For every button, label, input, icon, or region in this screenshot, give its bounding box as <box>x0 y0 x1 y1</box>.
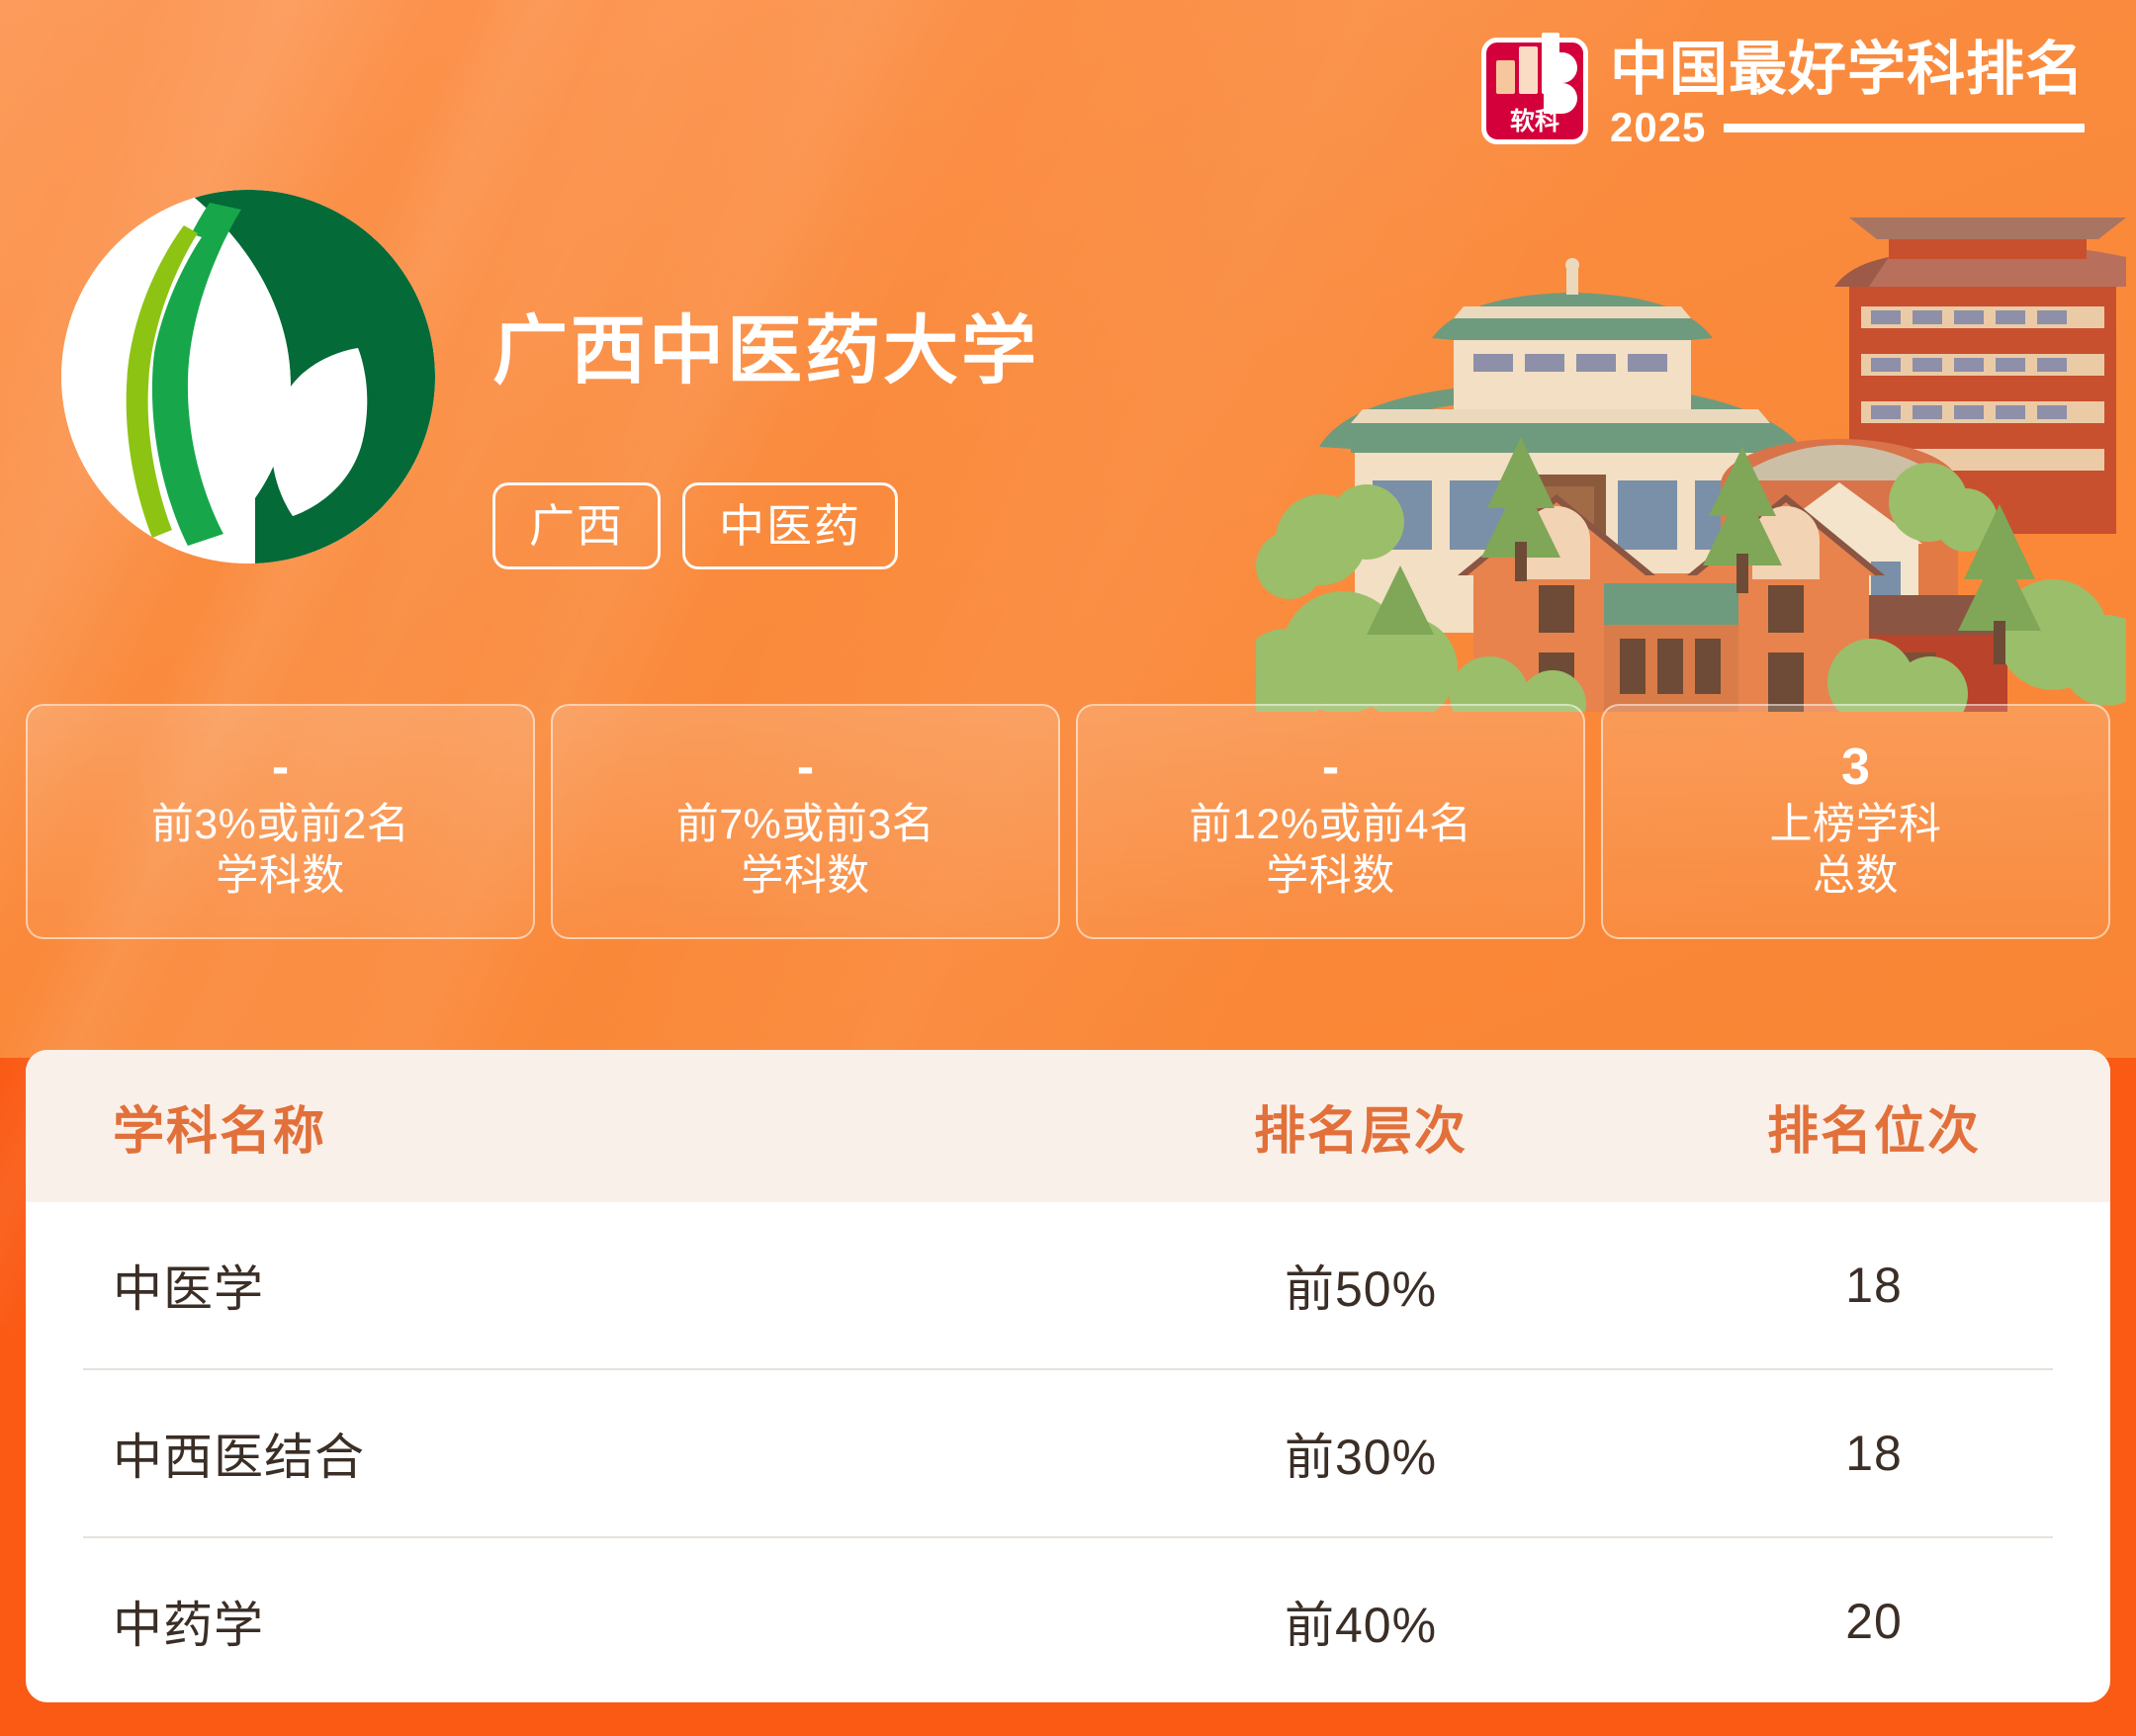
bottom-accent-strip <box>0 1702 2136 1736</box>
university-logo <box>61 190 435 564</box>
stat-card-top12[interactable]: - 前12%或前4名 学科数 <box>1076 704 1585 939</box>
tag-province[interactable]: 广西 <box>492 482 661 569</box>
table-row[interactable]: 中医学 前50% 18 <box>26 1202 2110 1368</box>
stat-value: - <box>1322 740 1339 795</box>
stat-card-top3[interactable]: - 前3%或前2名 学科数 <box>26 704 535 939</box>
logo-mark-text: 软科 <box>1486 110 1583 134</box>
summary-stats: - 前3%或前2名 学科数 - 前7%或前3名 学科数 - 前12%或前4名 学… <box>26 704 2110 939</box>
stat-label-line2: 学科数 <box>216 850 345 902</box>
logo-bar-1 <box>1496 60 1515 94</box>
university-name: 广西中医药大学 <box>492 314 1039 390</box>
stat-label-line2: 学科数 <box>1266 850 1395 902</box>
disciplines-table: 学科名称 排名层次 排名位次 中医学 前50% 18 中西医结合 前30% 18… <box>26 1050 2110 1702</box>
campus-illustration <box>1256 188 2126 712</box>
column-header-rank-position: 排名位次 <box>1638 1089 2110 1164</box>
stat-value: 3 <box>1841 740 1870 795</box>
cell-rank-position: 18 <box>1638 1257 2110 1314</box>
stat-label-line1: 前12%或前4名 <box>1190 799 1472 850</box>
cell-discipline-name: 中药学 <box>26 1586 1084 1657</box>
cell-rank-position: 20 <box>1638 1593 2110 1650</box>
cell-rank-tier: 前50% <box>1084 1250 1638 1321</box>
cell-rank-position: 18 <box>1638 1425 2110 1482</box>
table-row[interactable]: 中药学 前40% 20 <box>26 1538 2110 1702</box>
stat-label-line1: 前7%或前3名 <box>676 799 935 850</box>
tag-category[interactable]: 中医药 <box>682 482 898 569</box>
logo-bar-2 <box>1519 46 1538 94</box>
university-logo-graphic <box>61 190 435 564</box>
cell-rank-tier: 前40% <box>1084 1586 1638 1657</box>
cell-rank-tier: 前30% <box>1084 1418 1638 1489</box>
stat-card-top7[interactable]: - 前7%或前3名 学科数 <box>551 704 1060 939</box>
column-header-discipline-name: 学科名称 <box>26 1089 1084 1164</box>
brand-subline: 2025 <box>1610 107 2085 148</box>
stat-value: - <box>797 740 814 795</box>
cell-discipline-name: 中西医结合 <box>26 1418 1084 1489</box>
table-row[interactable]: 中西医结合 前30% 18 <box>26 1370 2110 1536</box>
stat-label-line1: 前3%或前2名 <box>151 799 410 850</box>
stat-value: - <box>272 740 289 795</box>
stat-label-line1: 上榜学科 <box>1770 799 1942 850</box>
table-header-row: 学科名称 排名层次 排名位次 <box>26 1050 2110 1202</box>
stat-label-line2: 学科数 <box>741 850 870 902</box>
campus-illustration-graphic <box>1256 188 2126 712</box>
cell-discipline-name: 中医学 <box>26 1250 1084 1321</box>
logo-letter-r-icon <box>1544 52 1577 114</box>
university-tags: 广西 中医药 <box>492 482 898 569</box>
stat-card-total[interactable]: 3 上榜学科 总数 <box>1601 704 2110 939</box>
shanghairanking-logo-icon: 软科 <box>1481 38 1588 144</box>
stat-label-line2: 总数 <box>1813 850 1899 902</box>
brand-text-block: 中国最好学科排名 2025 <box>1610 38 2085 148</box>
column-header-rank-tier: 排名层次 <box>1084 1089 1638 1164</box>
brand-year: 2025 <box>1610 107 1706 148</box>
brand-rule-divider <box>1724 124 2085 132</box>
ranking-card-page: 软科 中国最好学科排名 2025 广西中医药大学 广西 中医药 <box>0 0 2136 1736</box>
ranking-brand: 软科 中国最好学科排名 2025 <box>1481 38 2085 148</box>
brand-title: 中国最好学科排名 <box>1610 40 2085 99</box>
